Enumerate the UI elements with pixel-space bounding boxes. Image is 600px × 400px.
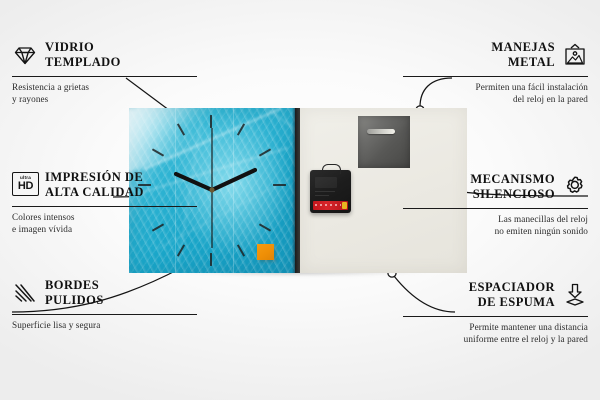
panel-dark-edge bbox=[295, 108, 300, 273]
feature-header: MECANISMOSILENCIOSO bbox=[403, 172, 588, 203]
feature-title: MANEJASMETAL bbox=[491, 40, 555, 71]
mechanism-detail bbox=[315, 195, 329, 196]
feature-divider bbox=[403, 76, 588, 77]
mechanism-detail bbox=[315, 191, 335, 192]
feature-foam-spacer: ESPACIADORDE ESPUMA Permite mantener una… bbox=[403, 280, 588, 346]
orange-foam-spacer bbox=[257, 244, 274, 260]
feature-description: Las manecillas del relojno emiten ningún… bbox=[403, 213, 588, 238]
feature-header: ESPACIADORDE ESPUMA bbox=[403, 280, 588, 311]
battery-stripe bbox=[315, 204, 341, 206]
arrow-down-layers-icon bbox=[562, 282, 588, 308]
feature-title: VIDRIOTEMPLADO bbox=[45, 40, 121, 71]
red-battery bbox=[313, 201, 348, 210]
battery-terminal bbox=[342, 202, 347, 209]
feature-divider bbox=[403, 208, 588, 209]
feature-description: Permiten una fácil instalacióndel reloj … bbox=[403, 81, 588, 106]
feature-header: BORDESPULIDOS bbox=[12, 278, 197, 309]
gear-icon bbox=[562, 174, 588, 200]
picture-frame-hanger-icon bbox=[562, 42, 588, 68]
feature-title: MECANISMOSILENCIOSO bbox=[470, 172, 555, 203]
mechanism-label bbox=[315, 177, 337, 188]
feature-metal-hangers: MANEJASMETAL Permiten una fácil instalac… bbox=[403, 40, 588, 106]
feature-description: Permite mantener una distanciauniforme e… bbox=[403, 321, 588, 346]
mechanism-handle bbox=[322, 164, 341, 174]
feature-silent-mechanism: MECANISMOSILENCIOSO Las manecillas del r… bbox=[403, 172, 588, 238]
diamond-icon bbox=[12, 42, 38, 68]
feature-header: ultra HD IMPRESIÓN DEALTA CALIDAD bbox=[12, 170, 197, 201]
feature-divider bbox=[12, 76, 197, 77]
feature-title: BORDESPULIDOS bbox=[45, 278, 104, 309]
feature-divider bbox=[12, 314, 197, 315]
minute-hand bbox=[212, 170, 255, 190]
ultra-hd-icon: ultra HD bbox=[12, 172, 38, 198]
hanger-keyhole-slot bbox=[367, 129, 395, 134]
infographic-canvas: VIDRIOTEMPLADO Resistencia a grietasy ra… bbox=[0, 0, 600, 400]
feature-header: MANEJASMETAL bbox=[403, 40, 588, 71]
feature-title: ESPACIADORDE ESPUMA bbox=[469, 280, 555, 311]
feature-header: VIDRIOTEMPLADO bbox=[12, 40, 197, 71]
feature-description: Superficie lisa y segura bbox=[12, 319, 197, 332]
feature-polished-edges: BORDESPULIDOS Superficie lisa y segura bbox=[12, 278, 197, 331]
feature-description: Colores intensose imagen vívida bbox=[12, 211, 197, 236]
hands-hub bbox=[209, 187, 214, 192]
feature-tempered-glass: VIDRIOTEMPLADO Resistencia a grietasy ra… bbox=[12, 40, 197, 106]
feature-hd-print: ultra HD IMPRESIÓN DEALTA CALIDAD Colore… bbox=[12, 170, 197, 236]
feature-divider bbox=[403, 316, 588, 317]
diagonal-lines-icon bbox=[12, 280, 38, 306]
feature-description: Resistencia a grietasy rayones bbox=[12, 81, 197, 106]
metal-hanger-plate bbox=[358, 116, 410, 168]
feature-divider bbox=[12, 206, 197, 207]
feature-title: IMPRESIÓN DEALTA CALIDAD bbox=[45, 170, 144, 201]
quartz-mechanism bbox=[310, 170, 351, 213]
